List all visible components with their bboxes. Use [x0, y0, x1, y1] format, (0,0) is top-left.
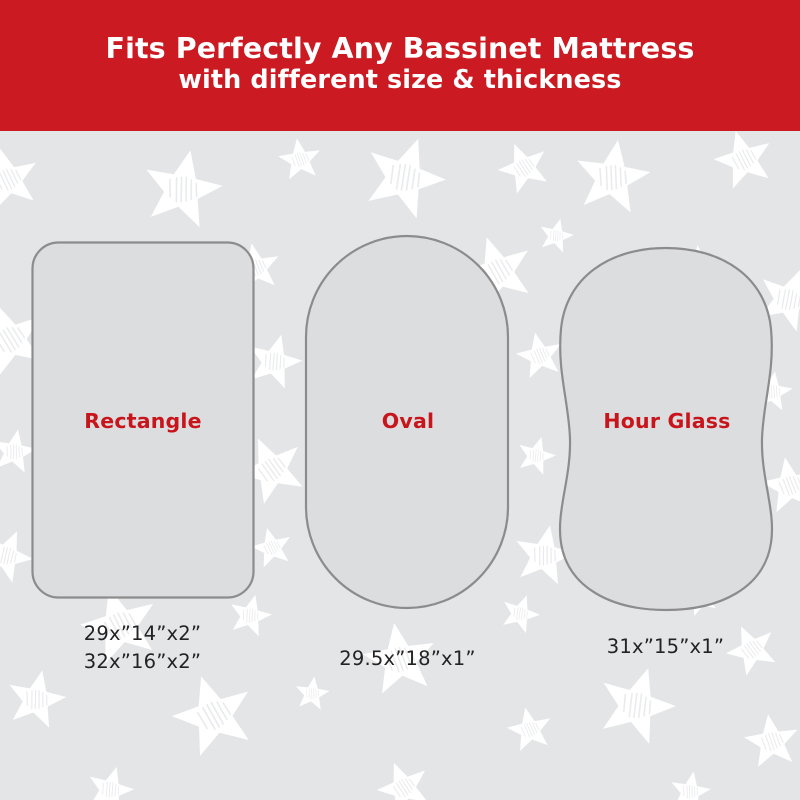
- banner-subheadline: with different size & thickness: [178, 65, 621, 96]
- infographic-canvas: Fits Perfectly Any Bassinet Mattress wit…: [0, 0, 800, 800]
- dimension-line: 29x”14”x2”: [30, 620, 255, 648]
- dimension-line: 31x”15”x1”: [558, 633, 773, 661]
- dimensions-oval: 29.5x”18”x1”: [305, 645, 510, 673]
- banner-headline: Fits Perfectly Any Bassinet Mattress: [106, 32, 695, 65]
- shape-label-oval: Oval: [307, 409, 509, 433]
- header-banner: Fits Perfectly Any Bassinet Mattress wit…: [0, 0, 800, 131]
- shape-label-hourglass: Hour Glass: [560, 409, 774, 433]
- dimension-line: 32x”16”x2”: [30, 648, 255, 676]
- shape-label-rectangle: Rectangle: [33, 409, 253, 433]
- dimensions-rectangle: 29x”14”x2” 32x”16”x2”: [30, 620, 255, 675]
- dimensions-hourglass: 31x”15”x1”: [558, 633, 773, 661]
- dimension-line: 29.5x”18”x1”: [305, 645, 510, 673]
